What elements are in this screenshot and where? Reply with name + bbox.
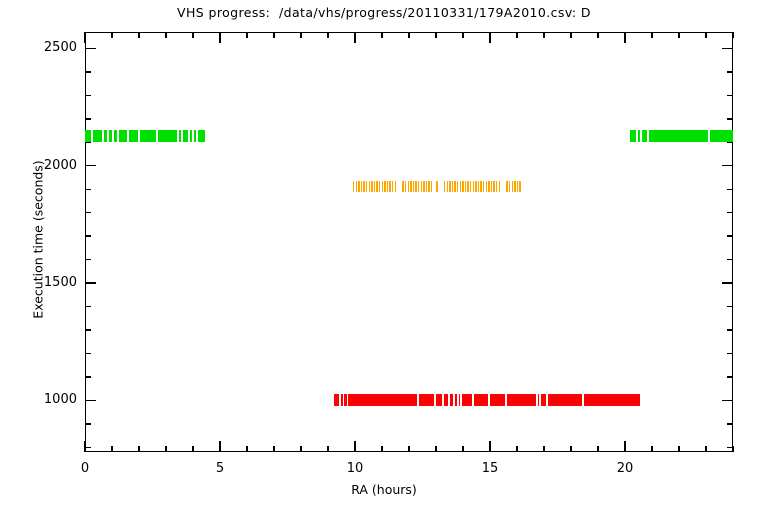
y-tick-right	[727, 71, 733, 72]
series-gap	[505, 394, 507, 406]
y-tick-left	[85, 259, 91, 260]
y-tick-label: 2000	[17, 159, 77, 172]
y-tick-right	[727, 235, 733, 236]
y-tick-right	[722, 282, 733, 283]
series-comb-gap	[490, 181, 491, 192]
y-tick-left	[85, 376, 91, 377]
series-comb-gap	[404, 181, 405, 192]
x-tick-bottom	[516, 446, 517, 452]
series-comb-gap	[516, 181, 517, 192]
series-comb-gap	[461, 181, 462, 192]
series-gap	[708, 130, 710, 142]
series-comb-gap	[393, 181, 394, 192]
series-comb-gap	[510, 181, 511, 192]
series-gap	[539, 394, 541, 406]
series-comb-gap	[484, 181, 485, 192]
series-comb-gap	[357, 181, 358, 192]
series-comb-gap	[370, 181, 371, 192]
series-comb-gap	[378, 181, 379, 192]
series-comb-gap	[425, 181, 426, 192]
x-tick-bottom	[111, 446, 112, 452]
y-tick-right	[727, 329, 733, 330]
y-tick-right	[722, 400, 733, 401]
x-tick-bottom	[300, 446, 301, 452]
x-tick-bottom	[462, 446, 463, 452]
x-tick-top	[84, 32, 85, 43]
series-gap	[460, 394, 462, 406]
x-tick-bottom	[678, 446, 679, 452]
y-tick-left	[85, 165, 96, 166]
x-tick-top	[165, 32, 166, 38]
x-tick-bottom	[381, 446, 382, 452]
series-comb-gap	[492, 181, 493, 192]
series-comb-gap	[409, 181, 410, 192]
series-gap	[117, 130, 119, 142]
series-gap	[177, 130, 179, 142]
series-comb-gap	[513, 181, 514, 192]
y-tick-right	[722, 165, 733, 166]
series-gap	[432, 181, 435, 192]
series-comb-gap	[458, 181, 459, 192]
x-tick-top	[435, 32, 436, 38]
y-tick-right	[727, 189, 733, 190]
x-tick-label: 10	[325, 462, 385, 475]
series-gap	[434, 394, 436, 406]
x-tick-top	[570, 32, 571, 38]
series-gap	[442, 394, 444, 406]
x-tick-bottom	[219, 441, 220, 452]
series-comb-gap	[453, 181, 454, 192]
y-tick-left	[85, 95, 91, 96]
series-comb-gap	[482, 181, 483, 192]
x-tick-top	[219, 32, 220, 43]
series-comb-gap	[391, 181, 392, 192]
series-comb-gap	[427, 181, 428, 192]
y-tick-right	[727, 259, 733, 260]
y-tick-right	[722, 48, 733, 49]
series-comb-gap	[365, 181, 366, 192]
y-tick-right	[727, 95, 733, 96]
plot-canvas: VHS progress: /data/vhs/progress/2011033…	[0, 0, 768, 512]
x-tick-label: 0	[55, 462, 115, 475]
series-gap	[156, 130, 158, 142]
series-comb-gap	[471, 181, 472, 192]
y-tick-right	[727, 376, 733, 377]
series-comb-gap	[487, 181, 488, 192]
series-comb-gap	[367, 181, 368, 192]
series-comb-gap	[464, 181, 465, 192]
series-gap	[347, 394, 349, 406]
x-tick-top	[732, 32, 733, 38]
y-tick-left	[85, 329, 91, 330]
series-comb-gap	[508, 181, 509, 192]
y-tick-left	[85, 282, 96, 283]
series-gap	[582, 394, 584, 406]
x-tick-top	[273, 32, 274, 38]
series-comb-gap	[469, 181, 470, 192]
x-tick-bottom	[543, 446, 544, 452]
x-axis-title: RA (hours)	[0, 482, 768, 497]
series-comb-gap	[354, 181, 355, 192]
series-gap	[343, 394, 345, 406]
x-tick-top	[408, 32, 409, 38]
x-tick-top	[516, 32, 517, 38]
series-comb-gap	[406, 181, 407, 192]
x-tick-bottom	[732, 446, 733, 452]
y-tick-left	[85, 447, 91, 448]
series-comb-gap	[456, 181, 457, 192]
series-gap	[488, 394, 490, 406]
x-tick-top	[543, 32, 544, 38]
series-gap	[127, 130, 129, 142]
series-gap	[192, 130, 194, 142]
x-tick-bottom	[327, 446, 328, 452]
series-comb-gap	[435, 181, 436, 192]
x-tick-top	[678, 32, 679, 38]
x-tick-bottom	[624, 441, 625, 452]
x-tick-bottom	[435, 446, 436, 452]
series-gap	[536, 394, 538, 406]
y-tick-left	[85, 306, 91, 307]
series-comb-gap	[474, 181, 475, 192]
series-gap	[546, 394, 548, 406]
y-tick-left	[85, 235, 91, 236]
series-gap	[448, 394, 450, 406]
x-tick-top	[327, 32, 328, 38]
x-tick-bottom	[408, 446, 409, 452]
x-tick-top	[111, 32, 112, 38]
x-tick-top	[246, 32, 247, 38]
series-gap	[339, 394, 341, 406]
series-gap	[138, 130, 140, 142]
x-tick-top	[300, 32, 301, 38]
series-gap	[196, 130, 198, 142]
series-comb-gap	[386, 181, 387, 192]
series-comb-gap	[401, 181, 402, 192]
x-tick-bottom	[489, 441, 490, 452]
series-comb-gap	[375, 181, 376, 192]
series-gap	[112, 130, 114, 142]
series-comb-gap	[417, 181, 418, 192]
x-tick-top	[651, 32, 652, 38]
series-gap	[501, 181, 505, 192]
series-comb-gap	[419, 181, 420, 192]
series-gap	[188, 130, 190, 142]
x-tick-top	[624, 32, 625, 43]
series-comb-gap	[521, 181, 522, 192]
x-tick-label: 15	[460, 462, 520, 475]
series-gap	[181, 130, 183, 142]
series-comb-gap	[414, 181, 415, 192]
series-comb-gap	[505, 181, 506, 192]
y-tick-label: 1000	[17, 393, 77, 406]
x-tick-bottom	[651, 446, 652, 452]
series-gap	[640, 130, 642, 142]
x-tick-bottom	[84, 441, 85, 452]
y-tick-right	[727, 306, 733, 307]
y-tick-left	[85, 353, 91, 354]
series-gap	[91, 130, 93, 142]
y-tick-left	[85, 423, 91, 424]
series-gap	[439, 181, 443, 192]
series-gap	[102, 130, 104, 142]
series-gap	[472, 394, 474, 406]
y-tick-left	[85, 212, 91, 213]
x-tick-bottom	[354, 441, 355, 452]
x-tick-top	[705, 32, 706, 38]
series-comb-gap	[445, 181, 446, 192]
series-comb-gap	[518, 181, 519, 192]
series-comb-gap	[495, 181, 496, 192]
x-tick-bottom	[705, 446, 706, 452]
y-tick-left	[85, 48, 96, 49]
x-tick-bottom	[597, 446, 598, 452]
y-tick-left	[85, 400, 96, 401]
y-tick-label: 2500	[17, 41, 77, 54]
series-comb-gap	[412, 181, 413, 192]
x-tick-top	[462, 32, 463, 38]
x-tick-bottom	[138, 446, 139, 452]
x-tick-label: 5	[190, 462, 250, 475]
series-gap	[457, 394, 459, 406]
y-tick-left	[85, 118, 91, 119]
series-gap	[647, 130, 649, 142]
page-title: VHS progress: /data/vhs/progress/2011033…	[0, 5, 768, 20]
y-tick-label: 1500	[17, 276, 77, 289]
y-tick-left	[85, 189, 91, 190]
series-comb-gap	[448, 181, 449, 192]
plot-frame	[85, 32, 733, 452]
series-gap	[453, 394, 455, 406]
y-axis-title: Execution time (seconds)	[31, 110, 46, 370]
series-comb-gap	[388, 181, 389, 192]
series-comb-gap	[362, 181, 363, 192]
series-comb-gap	[373, 181, 374, 192]
y-tick-left	[85, 71, 91, 72]
y-tick-right	[727, 212, 733, 213]
series-comb-gap	[477, 181, 478, 192]
series-comb-gap	[443, 181, 444, 192]
x-tick-bottom	[273, 446, 274, 452]
x-tick-top	[489, 32, 490, 43]
y-tick-right	[727, 118, 733, 119]
series-comb-gap	[451, 181, 452, 192]
series-gap	[636, 130, 638, 142]
series-gap	[107, 130, 109, 142]
x-tick-top	[192, 32, 193, 38]
x-tick-bottom	[570, 446, 571, 452]
series-comb-gap	[360, 181, 361, 192]
series-comb-gap	[497, 181, 498, 192]
x-tick-label: 20	[595, 462, 655, 475]
series-segment	[630, 130, 733, 142]
series-comb-gap	[380, 181, 381, 192]
series-comb-gap	[422, 181, 423, 192]
x-tick-top	[381, 32, 382, 38]
x-tick-top	[597, 32, 598, 38]
x-tick-top	[354, 32, 355, 43]
x-tick-top	[138, 32, 139, 38]
series-comb-gap	[479, 181, 480, 192]
x-tick-bottom	[192, 446, 193, 452]
x-tick-bottom	[246, 446, 247, 452]
series-comb-gap	[430, 181, 431, 192]
y-tick-right	[727, 423, 733, 424]
series-comb-gap	[466, 181, 467, 192]
y-tick-right	[727, 353, 733, 354]
series-comb-gap	[383, 181, 384, 192]
series-gap	[417, 394, 419, 406]
series-gap	[397, 181, 401, 192]
x-tick-bottom	[165, 446, 166, 452]
